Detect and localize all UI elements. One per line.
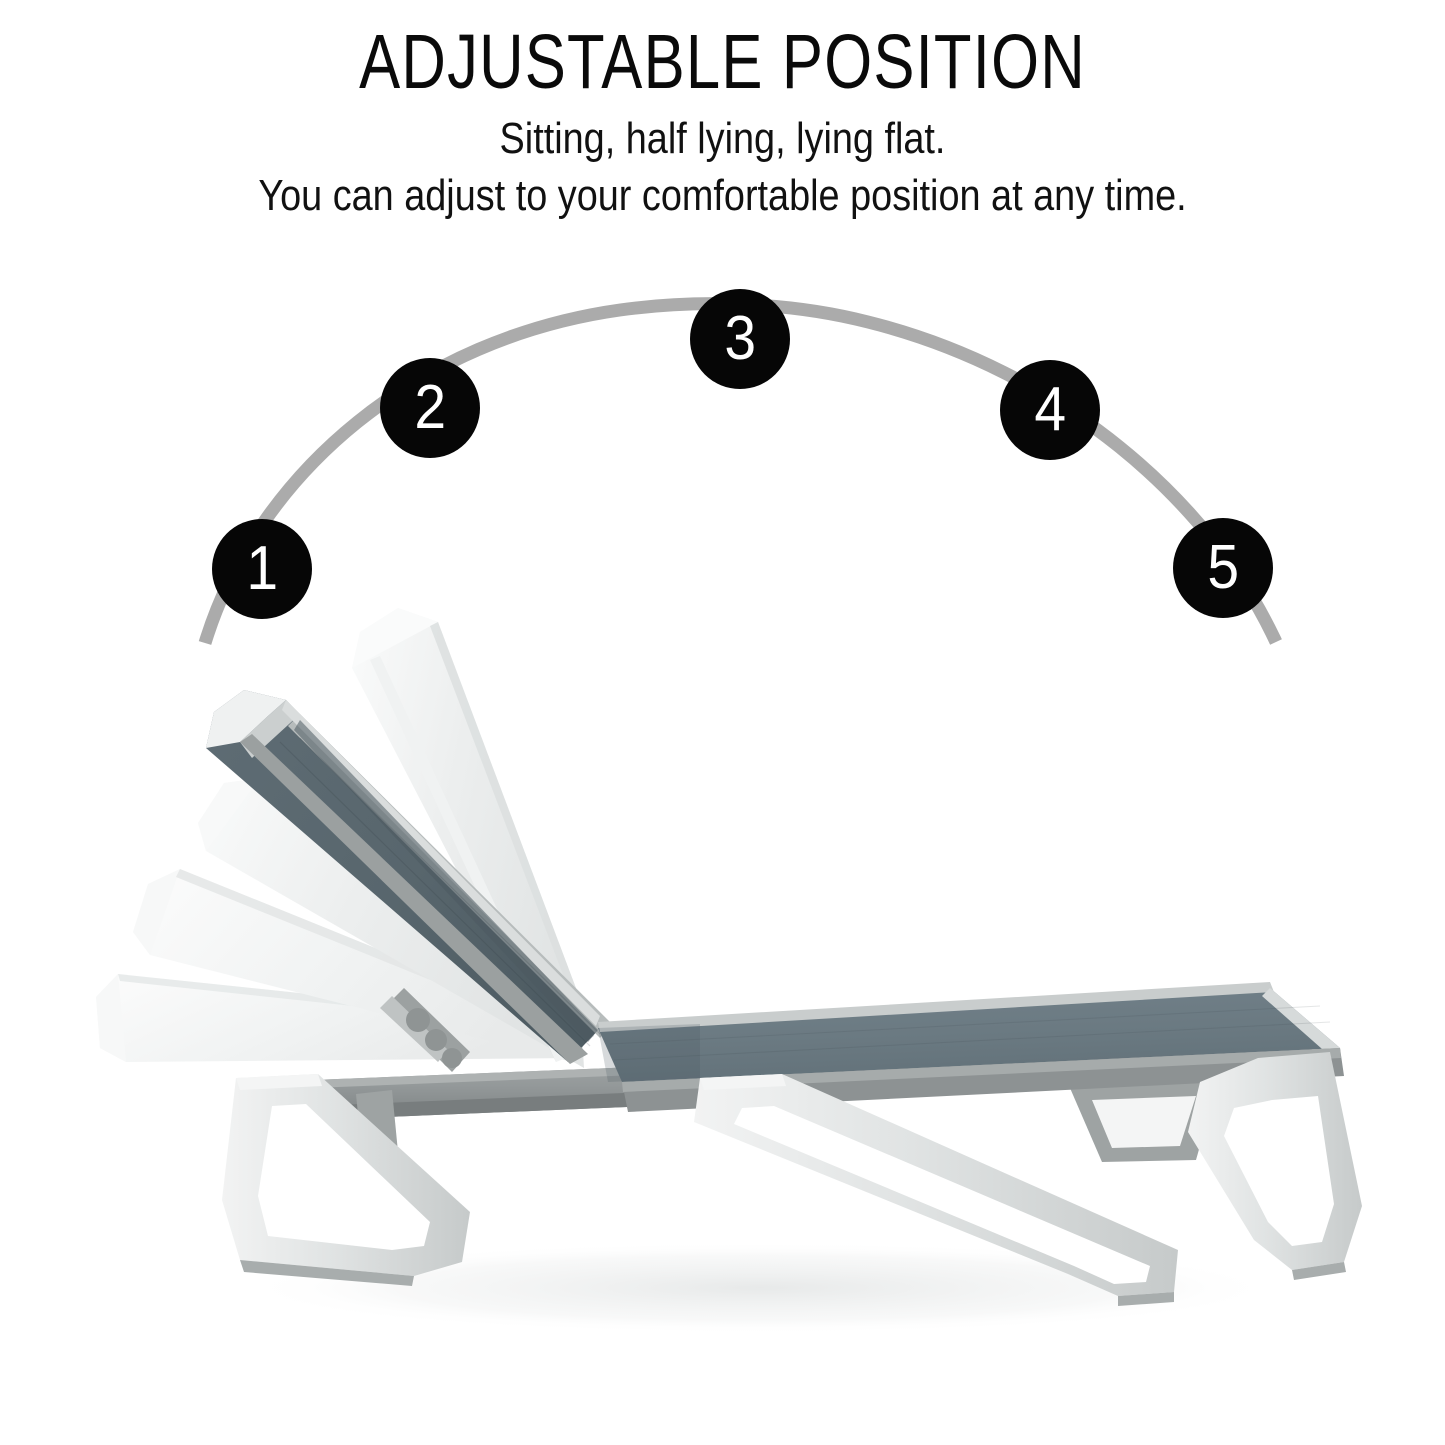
position-3-half-lying[interactable]: 3 xyxy=(690,289,790,389)
position-2-reclined[interactable]: 2 xyxy=(380,358,480,458)
position-arc-diagram: 12345 xyxy=(0,0,1445,1445)
position-5-lying-flat[interactable]: 5 xyxy=(1173,518,1273,618)
badge-number: 3 xyxy=(724,308,756,370)
arc-svg xyxy=(0,0,1445,1445)
badge-number: 5 xyxy=(1207,537,1239,599)
badge-number: 4 xyxy=(1034,379,1066,441)
position-1-sitting[interactable]: 1 xyxy=(212,519,312,619)
position-4-low-recline[interactable]: 4 xyxy=(1000,360,1100,460)
badge-number: 1 xyxy=(246,538,278,600)
badge-number: 2 xyxy=(414,377,446,439)
infographic-page: ADJUSTABLE POSITION Sitting, half lying,… xyxy=(0,0,1445,1445)
